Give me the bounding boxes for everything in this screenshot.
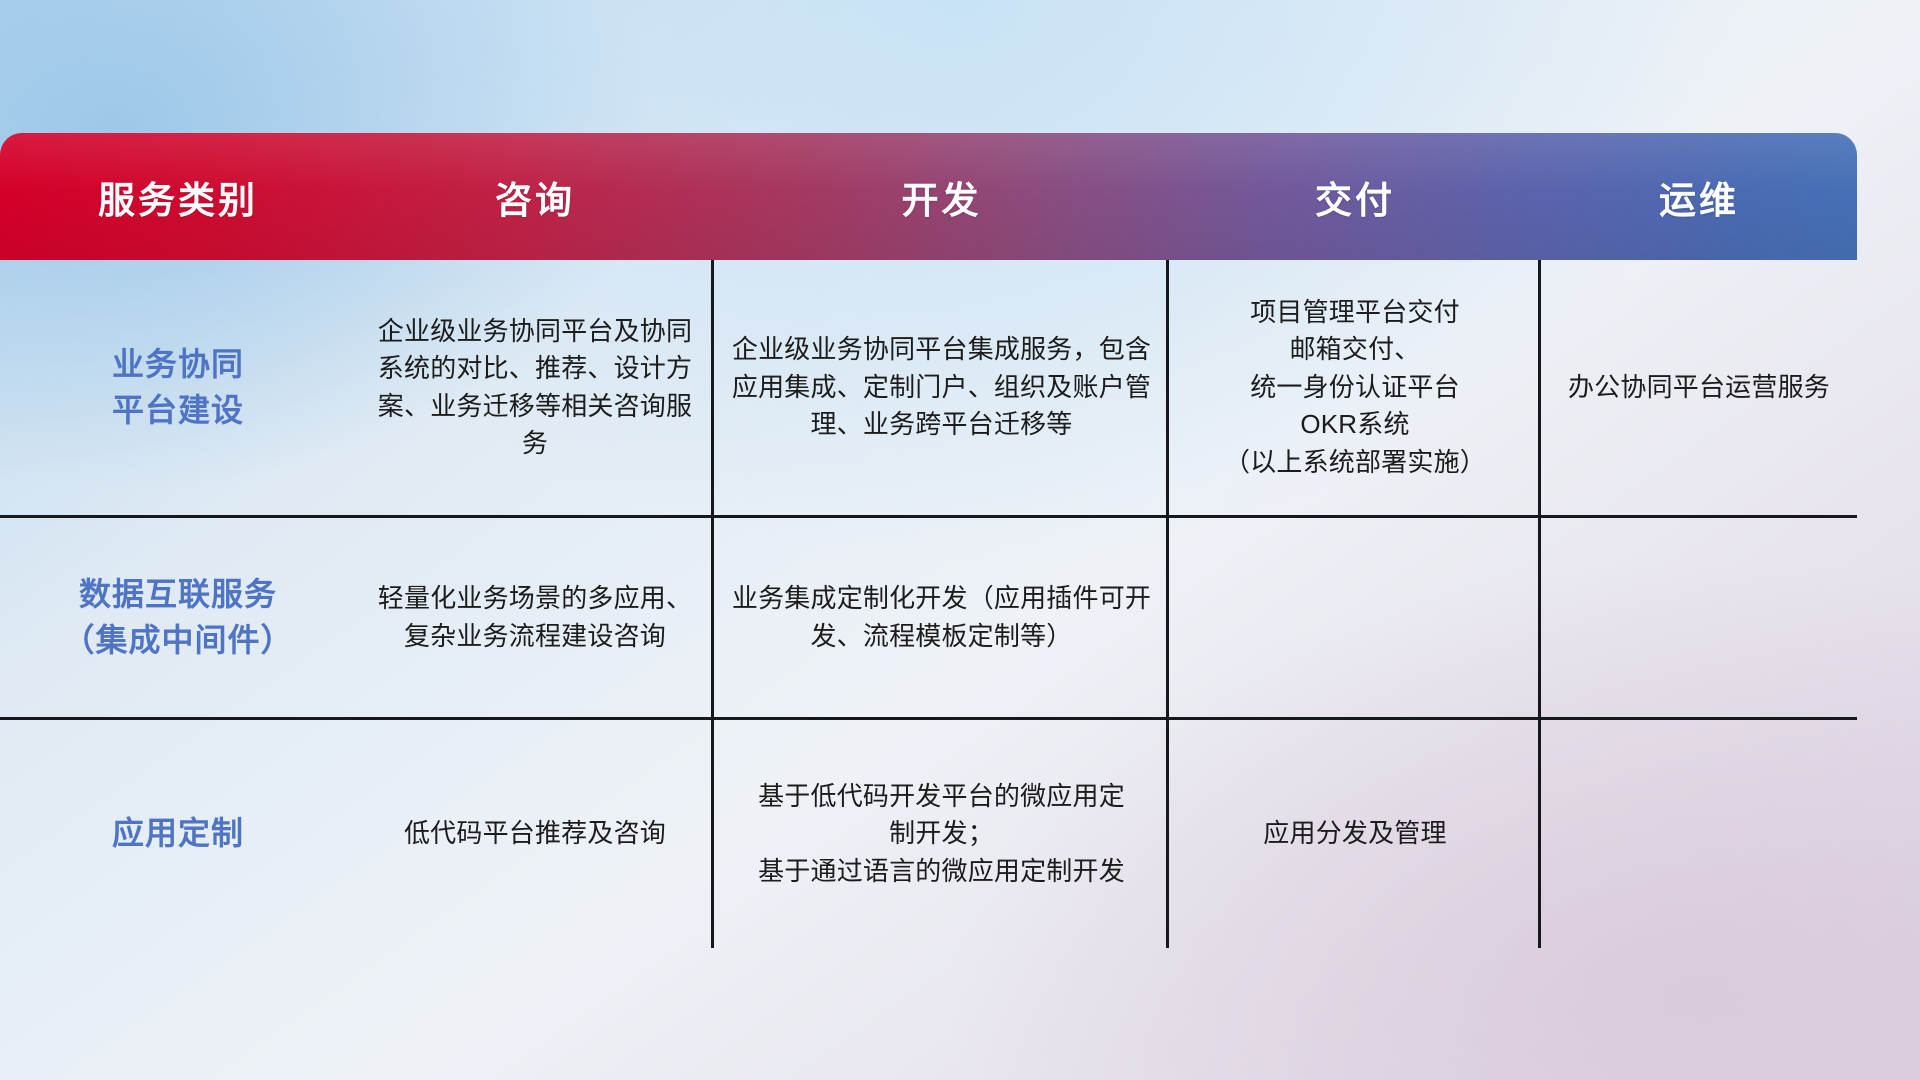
cell-text: 办公协同平台运营服务 [1568,369,1830,406]
table-row: 数据互联服务 （集成中间件） 轻量化业务场景的多应用、复杂业务流程建设咨询 业务… [0,515,1857,717]
cell-development: 企业级业务协同平台集成服务，包含应用集成、定制门户、组织及账户管理、业务跨平台迁… [714,260,1169,515]
delivery-line-5: （以上系统部署实施） [1224,444,1486,481]
category-label: 数据互联服务 （集成中间件） [62,572,293,663]
cell-consulting: 轻量化业务场景的多应用、复杂业务流程建设咨询 [356,518,714,717]
cell-delivery: 应用分发及管理 [1169,720,1541,948]
development-line-1: 基于低代码开发平台的微应用定 [758,778,1125,815]
cell-text-multiline: 项目管理平台交付 邮箱交付、 统一身份认证平台 OKR系统 （以上系统部署实施） [1224,294,1486,481]
category-line-1: 业务协同 [112,342,244,387]
cell-consulting: 低代码平台推荐及咨询 [356,720,714,948]
development-line-2: 制开发； [758,815,1125,852]
cell-text: 应用分发及管理 [1263,815,1446,852]
category-line-1: 应用定制 [112,811,244,856]
delivery-line-1: 项目管理平台交付 [1224,294,1486,331]
category-line-2: 平台建设 [112,388,244,433]
cell-consulting: 企业级业务协同平台及协同系统的对比、推荐、设计方案、业务迁移等相关咨询服务 [356,260,714,515]
column-header-service-category[interactable]: 服务类别 [0,133,356,260]
category-label: 业务协同 平台建设 [112,342,244,433]
cell-text: 业务集成定制化开发（应用插件可开发、流程模板定制等） [728,580,1155,655]
cell-text: 轻量化业务场景的多应用、复杂业务流程建设咨询 [370,580,700,655]
table-body: 业务协同 平台建设 企业级业务协同平台及协同系统的对比、推荐、设计方案、业务迁移… [0,260,1857,948]
column-header-delivery[interactable]: 交付 [1169,133,1541,260]
cell-development: 业务集成定制化开发（应用插件可开发、流程模板定制等） [714,518,1169,717]
cell-text: 低代码平台推荐及咨询 [404,815,666,852]
category-line-1: 数据互联服务 [62,572,293,617]
cell-delivery: 项目管理平台交付 邮箱交付、 统一身份认证平台 OKR系统 （以上系统部署实施） [1169,260,1541,515]
cell-text: 企业级业务协同平台及协同系统的对比、推荐、设计方案、业务迁移等相关咨询服务 [370,313,700,463]
cell-operations [1541,720,1857,948]
column-header-consulting[interactable]: 咨询 [356,133,714,260]
cell-development: 基于低代码开发平台的微应用定 制开发； 基于通过语言的微应用定制开发 [714,720,1169,948]
cell-text: 企业级业务协同平台集成服务，包含应用集成、定制门户、组织及账户管理、业务跨平台迁… [728,331,1155,443]
delivery-line-3: 统一身份认证平台 [1224,369,1486,406]
table-header-row: 服务类别 咨询 开发 交付 运维 [0,133,1857,260]
cell-operations [1541,518,1857,717]
row-category-cell: 应用定制 [0,720,356,948]
table-row: 业务协同 平台建设 企业级业务协同平台及协同系统的对比、推荐、设计方案、业务迁移… [0,260,1857,515]
delivery-line-4: OKR系统 [1224,406,1486,443]
row-category-cell: 数据互联服务 （集成中间件） [0,518,356,717]
cell-delivery [1169,518,1541,717]
slide-canvas: 服务类别 咨询 开发 交付 运维 业务协同 平台建设 企业级业务协同平台及协同系… [0,0,1920,1080]
development-line-3: 基于通过语言的微应用定制开发 [758,853,1125,890]
column-header-development[interactable]: 开发 [714,133,1169,260]
category-line-2: （集成中间件） [62,618,293,663]
row-category-cell: 业务协同 平台建设 [0,260,356,515]
category-label: 应用定制 [112,811,244,856]
cell-text-multiline: 基于低代码开发平台的微应用定 制开发； 基于通过语言的微应用定制开发 [758,778,1125,890]
column-header-operations[interactable]: 运维 [1541,133,1857,260]
delivery-line-2: 邮箱交付、 [1224,331,1486,368]
table-row: 应用定制 低代码平台推荐及咨询 基于低代码开发平台的微应用定 制开发； 基于通过… [0,717,1857,948]
cell-operations: 办公协同平台运营服务 [1541,260,1857,515]
